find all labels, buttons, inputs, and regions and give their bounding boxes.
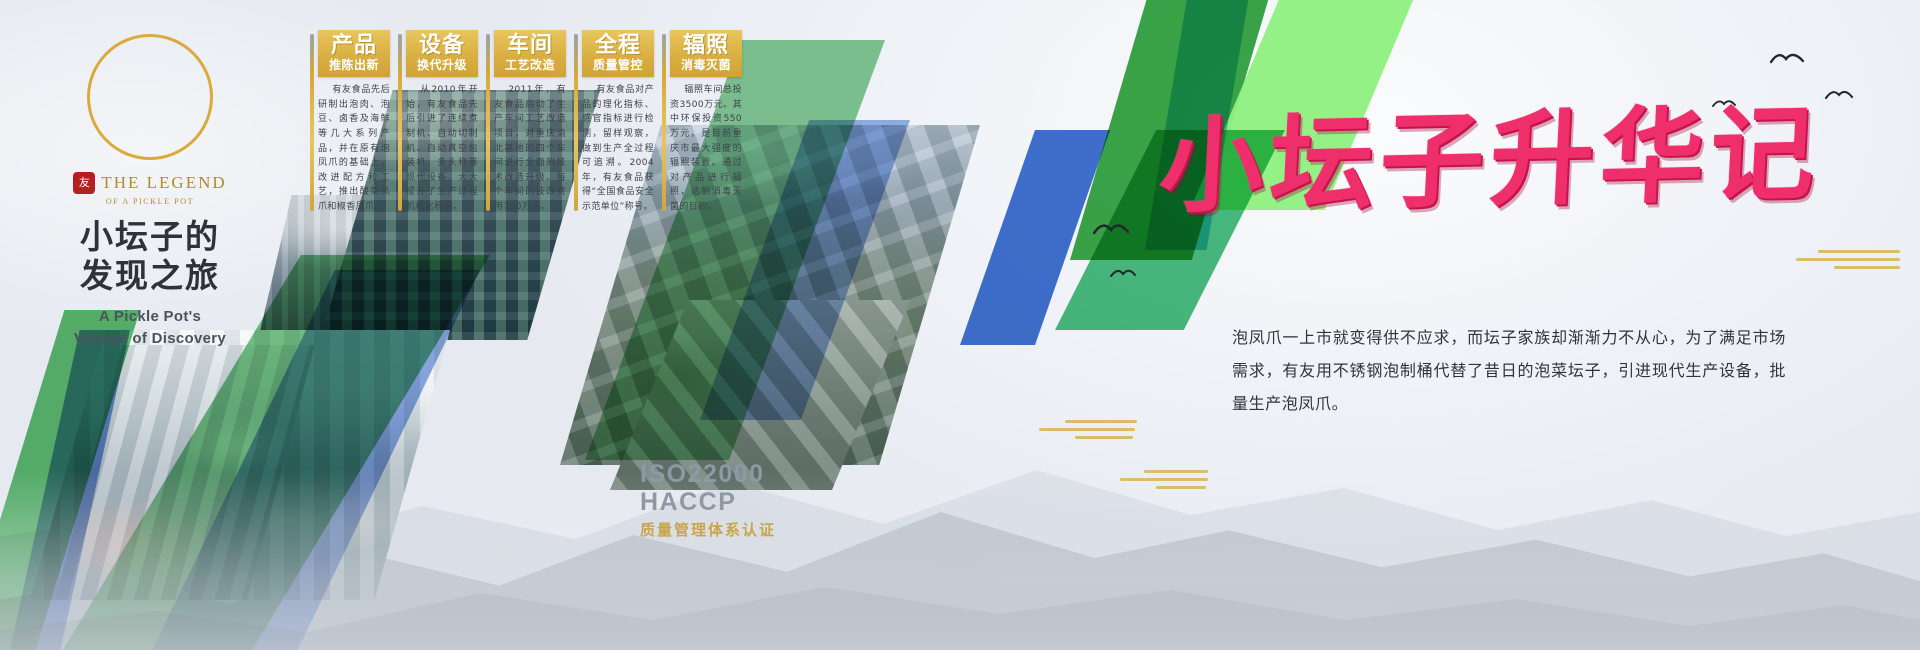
brand-title-cn-line1: 小坛子的: [40, 218, 260, 257]
pickle-pot-emblem-icon: [87, 34, 213, 160]
brand-title-en-line1: A Pickle Pot's: [40, 306, 260, 329]
card-header: 车间 工艺改造: [494, 30, 566, 77]
bird-icon: [1093, 218, 1129, 239]
bird-icon: [1110, 265, 1136, 281]
timeline-card-workshop[interactable]: 车间 工艺改造 2011年，有友食品启动了生产车间工艺改造项目，对重庆渝北基地的…: [494, 30, 566, 214]
hero-title: 小坛子升华记: [1157, 101, 1823, 219]
cloud-ornament-mid: [1035, 420, 1145, 444]
card-rail: [662, 34, 666, 211]
timeline-cards: 产品 推陈出新 有友食品先后研制出泡肉、泡豆、卤香及海鲜等几大系列产品，并在原有…: [318, 30, 742, 214]
card-header: 辐照 消毒灭菌: [670, 30, 742, 77]
bird-icon: [1770, 48, 1804, 68]
timeline-card-quality[interactable]: 全程 质量管控 有友食品对产品的理化指标、感官指标进行检测，留样观察，做到生产全…: [582, 30, 654, 214]
card-heading: 车间: [499, 34, 561, 57]
legend-en-text: THE LEGEND: [101, 173, 226, 193]
card-heading: 全程: [587, 34, 649, 57]
certification-cn-text: 质量管理体系认证: [640, 519, 776, 540]
poster-canvas: 友 THE LEGEND OF A PICKLE POT 小坛子的 发现之旅 A…: [0, 0, 1920, 650]
card-header: 全程 质量管控: [582, 30, 654, 77]
card-header: 产品 推陈出新: [318, 30, 390, 77]
card-heading: 产品: [323, 34, 385, 57]
certification-iso-text: ISO22000: [640, 460, 776, 488]
card-rail: [574, 34, 578, 211]
card-subheading: 消毒灭菌: [675, 59, 737, 72]
card-heading: 辐照: [675, 34, 737, 57]
timeline-card-equipment[interactable]: 设备 换代升级 从2010年开始，有友食品先后引进了连续煮制机、自动切制机、自动…: [406, 30, 478, 214]
brand-title-en-line2: Voyage of Discovery: [40, 328, 260, 351]
card-body: 从2010年开始，有友食品先后引进了连续煮制机、自动切制机、自动真空包装机、多头…: [406, 83, 478, 214]
card-body: 有友食品先后研制出泡肉、泡豆、卤香及海鲜等几大系列产品，并在原有泡凤爪的基础上，…: [318, 83, 390, 214]
card-rail: [310, 34, 314, 211]
timeline-card-product[interactable]: 产品 推陈出新 有友食品先后研制出泡肉、泡豆、卤香及海鲜等几大系列产品，并在原有…: [318, 30, 390, 214]
brand-title-cn-line2: 发现之旅: [40, 257, 260, 296]
card-body: 2011年，有友食品启动了生产车间工艺改造项目，对重庆渝北基地的四个车间进行全面…: [494, 83, 566, 214]
card-heading: 设备: [411, 34, 473, 57]
card-subheading: 换代升级: [411, 59, 473, 72]
brand-block: 友 THE LEGEND OF A PICKLE POT 小坛子的 发现之旅 A…: [40, 34, 260, 351]
card-subheading: 工艺改造: [499, 59, 561, 72]
card-subheading: 质量管控: [587, 59, 649, 72]
brand-title-en: A Pickle Pot's Voyage of Discovery: [40, 306, 260, 351]
card-subheading: 推陈出新: [323, 59, 385, 72]
card-body: 有友食品对产品的理化指标、感官指标进行检测，留样观察，做到生产全过程可追溯。20…: [582, 83, 654, 214]
blue-blade-right: [960, 130, 1110, 345]
timeline-card-irradiation[interactable]: 辐照 消毒灭菌 辐照车间总投资3500万元。其中环保投资550万元。是目前重庆市…: [670, 30, 742, 214]
hero-paragraph: 泡凤爪一上市就变得供不应求，而坛子家族却渐渐力不从心，为了满足市场需求，有友用不…: [1232, 322, 1786, 420]
cloud-ornament-right: [1790, 250, 1900, 274]
certification-badge: ISO22000 HACCP 质量管理体系认证: [640, 460, 776, 540]
seal-icon: 友: [73, 172, 95, 194]
certification-haccp-text: HACCP: [640, 488, 776, 516]
bird-icon: [1825, 86, 1853, 103]
card-header: 设备 换代升级: [406, 30, 478, 77]
brand-title-cn: 小坛子的 发现之旅: [40, 218, 260, 296]
card-body: 辐照车间总投资3500万元。其中环保投资550万元。是目前重庆市最大强度的辐照装…: [670, 83, 742, 214]
cloud-ornament-lower: [1110, 470, 1220, 494]
haze-bottom: [0, 470, 1920, 650]
card-rail: [398, 34, 402, 211]
legend-wordmark: 友 THE LEGEND: [40, 172, 260, 194]
legend-sub-text: OF A PICKLE POT: [40, 197, 260, 206]
card-rail: [486, 34, 490, 211]
